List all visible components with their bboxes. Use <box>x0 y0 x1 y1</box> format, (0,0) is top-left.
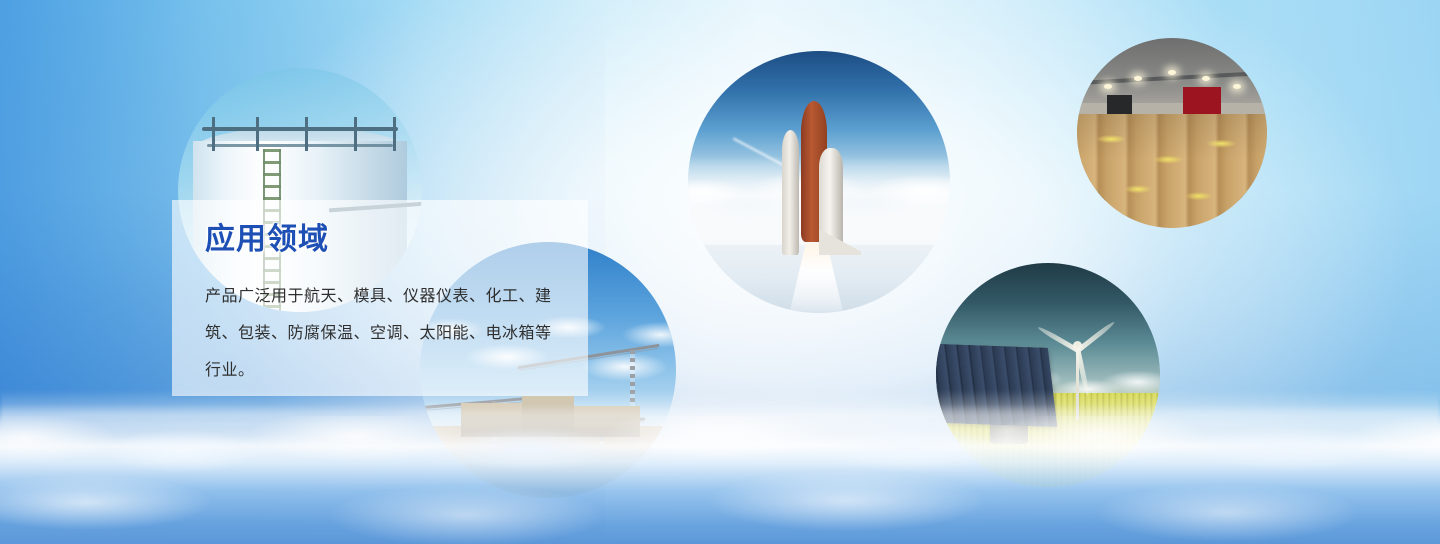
info-panel: 应用领域 产品广泛用于航天、模具、仪器仪表、化工、建筑、包装、防腐保温、空调、太… <box>172 200 588 396</box>
cloud-sea <box>0 404 1440 544</box>
panel-description: 产品广泛用于航天、模具、仪器仪表、化工、建筑、包装、防腐保温、空调、太阳能、电冰… <box>205 278 557 389</box>
photo-circle-space-shuttle <box>688 51 950 313</box>
application-fields-banner: 应用领域 产品广泛用于航天、模具、仪器仪表、化工、建筑、包装、防腐保温、空调、太… <box>0 0 1440 544</box>
page-title: 应用领域 <box>205 222 558 258</box>
photo-circle-warehouse <box>1077 38 1267 228</box>
cloud-lower-layer <box>0 468 1440 544</box>
